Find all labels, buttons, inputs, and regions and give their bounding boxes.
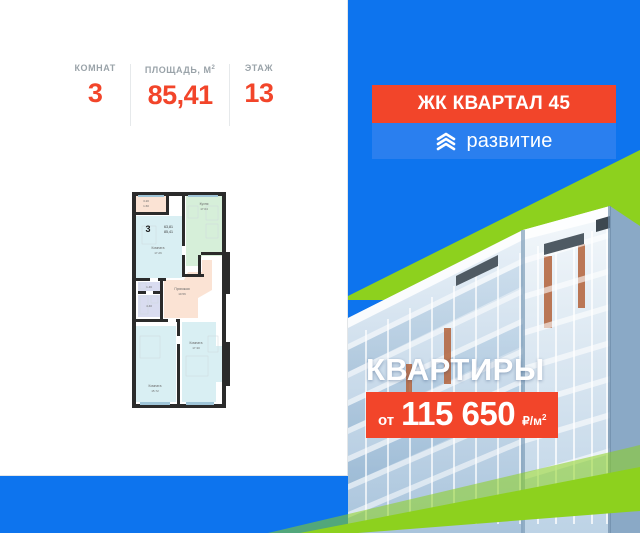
svg-text:Прихожая: Прихожая [174,287,189,291]
svg-text:Комната: Комната [190,341,203,345]
offer-price-banner: от 115 650 ₽/м2 [366,392,558,438]
listing-card: КОМНАТ 3 ПЛОЩАДЬ, М2 85,41 ЭТАЖ 13 .w{fi… [0,0,348,476]
stat-rooms: КОМНАТ 3 [61,62,130,110]
svg-text:17.26: 17.26 [154,251,162,255]
promo-panel: ЖК КВАРТАЛ 45 развитие КВАРТИРЫ [348,0,640,533]
svg-text:Комната: Комната [152,246,165,250]
plan-label-bath-large: 4.40 [146,304,152,308]
stats-row: КОМНАТ 3 ПЛОЩАДЬ, М2 85,41 ЭТАЖ 13 [0,62,348,130]
plan-badge-living: 63,81 [164,225,173,229]
plan-room-2-fill [182,322,222,402]
developer-name-text: развитие [466,130,552,153]
screenshot-root: КОМНАТ 3 ПЛОЩАДЬ, М2 85,41 ЭТАЖ 13 .w{fi… [0,0,640,533]
floor-plan[interactable]: .w{fill:#2b2b2b} .rm-blue{fill:#d9eff3} … [126,186,238,414]
stat-area: ПЛОЩАДЬ, М2 85,41 [131,62,230,112]
stat-area-value: 85,41 [148,79,213,112]
plan-label-balcony-a: 3.20 [143,199,149,203]
offer-price-value: 115 650 [401,397,515,431]
plan-balcony-fill [136,196,166,212]
svg-text:Кухня: Кухня [200,202,209,206]
offer-headline: КВАРТИРЫ [366,352,622,388]
stat-rooms-value: 3 [88,77,103,110]
stat-floor-caption: ЭТАЖ [245,62,273,74]
stat-rooms-caption: КОМНАТ [75,62,116,74]
complex-name-text: ЖК КВАРТАЛ 45 [418,93,571,115]
chevrons-up-icon [435,131,457,151]
svg-text:Комната: Комната [149,384,162,388]
svg-text:17.30: 17.30 [192,346,200,350]
offer-price-prefix: от [378,412,394,429]
svg-text:17.04: 17.04 [200,207,208,211]
svg-text:15.72: 15.72 [151,389,159,393]
stat-floor: ЭТАЖ 13 [230,62,287,110]
complex-name-banner: ЖК КВАРТАЛ 45 [372,85,616,123]
offer-block: КВАРТИРЫ от 115 650 ₽/м2 [366,352,622,438]
plan-badge-total: 85,41 [164,230,173,234]
offer-price-unit: ₽/м2 [522,413,546,428]
stat-floor-value: 13 [244,77,273,110]
building-illustration [348,168,640,533]
plan-label-kitchen: Кухня 17.04 [200,202,209,211]
stat-area-caption: ПЛОЩАДЬ, М2 [145,62,216,76]
developer-banner: развитие [372,123,616,159]
plan-label-balcony-b: 1.60 [143,204,149,208]
plan-badge-rooms: 3 [145,224,150,234]
plan-label-bath-small: 1.46 [146,285,152,289]
brand-block: ЖК КВАРТАЛ 45 развитие [372,85,616,159]
svg-text:10.56: 10.56 [178,292,186,296]
